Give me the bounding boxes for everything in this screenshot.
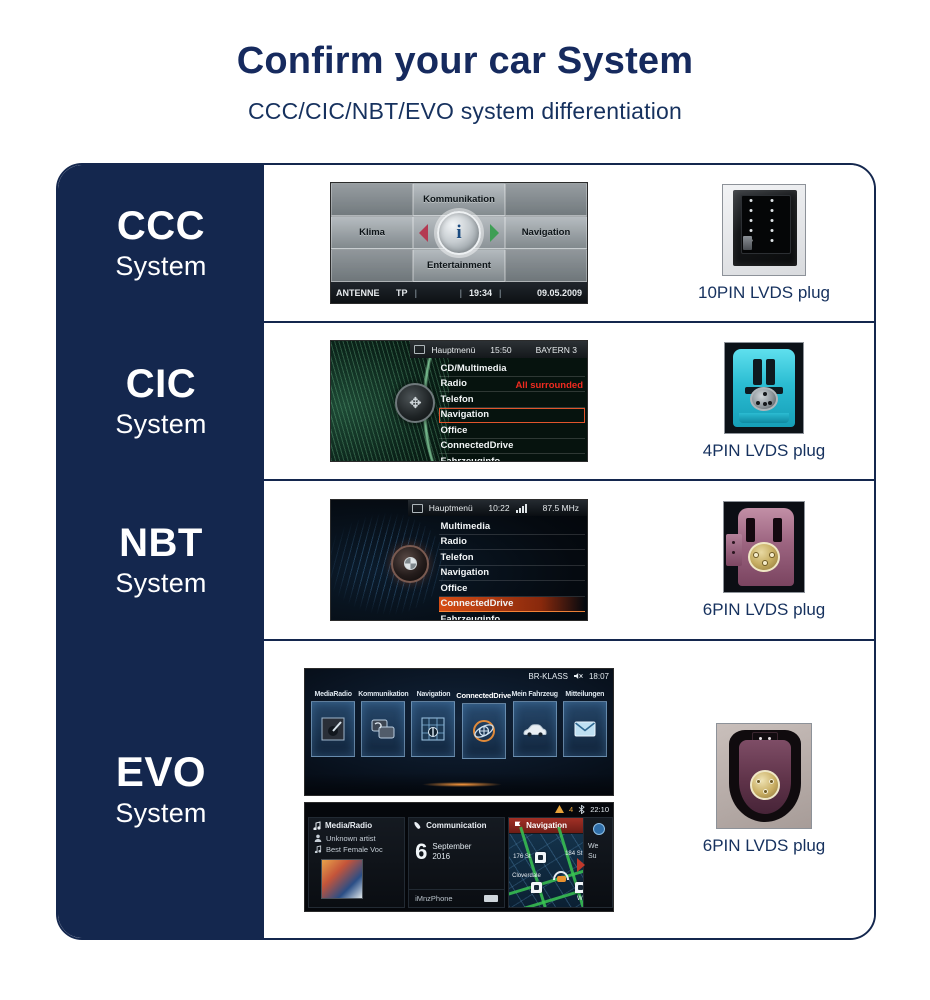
cic-topbar-time: 15:50 — [490, 345, 511, 355]
evo-phone-label: iMnzPhone — [415, 894, 453, 903]
system-code: EVO — [116, 750, 206, 794]
cic-topbar-station: BAYERN 3 — [536, 345, 577, 355]
evo-date-month: September — [432, 842, 471, 852]
nbt-topbar-frequency: 87.5 MHz — [543, 503, 579, 513]
info-i-icon: i — [437, 211, 481, 255]
cic-menu-item[interactable]: CD/Multimedia — [439, 361, 585, 377]
evo-warning-count: 4 — [569, 805, 573, 814]
ccc-tile-blank-bl — [331, 249, 413, 282]
nbt-menu-item[interactable]: Telefon — [439, 550, 585, 566]
plug-cell-cic: 4PIN LVDS plug — [654, 323, 874, 479]
page-subtitle: CCC/CIC/NBT/EVO system differentiation — [0, 98, 930, 125]
evo-bottom-status-bar: 4 22:10 — [555, 805, 609, 814]
evo-bottom-time: 22:10 — [590, 805, 609, 814]
map-compass-icon — [420, 716, 446, 742]
nbt-menu-item[interactable]: Multimedia — [439, 519, 585, 535]
idrive-controller-icon — [391, 545, 429, 583]
evo-top-time: 18:07 — [589, 672, 609, 681]
evo-tile-kommunikation[interactable]: Kommunikation — [360, 691, 406, 759]
table-row-cic: CIC System ✥ Hauptmenü 15:50 BAYERN 3 CD — [58, 323, 874, 481]
system-label-evo: EVO System — [58, 641, 264, 938]
table-row-evo: EVO System BR-KLASS 18:07 — [58, 641, 874, 938]
ccc-status-bar: ANTENNE TP | | 19:34 | 09.05.2009 — [331, 282, 587, 303]
connector-4pin-cyan-icon — [724, 342, 804, 434]
cic-menu-item[interactable]: Telefon — [439, 392, 585, 408]
plug-cell-evo: 6PIN LVDS plug — [654, 641, 874, 938]
evo-panel-communication[interactable]: Communication 6 September 2016 iMnzPho — [408, 817, 505, 908]
map-pin-icon — [535, 852, 546, 863]
nbt-menu-item[interactable]: Fahrzeuginfo — [439, 612, 585, 621]
evo-top-status-bar: BR-KLASS 18:07 — [528, 672, 609, 681]
system-sub: System — [115, 409, 206, 440]
system-label-nbt: NBT System — [58, 481, 264, 639]
evo-weather-line: Su — [588, 852, 598, 863]
warning-triangle-icon — [555, 805, 564, 813]
evo-tile-mitteilungen[interactable]: Mitteilungen — [563, 691, 607, 759]
evo-weather-lines: We Su — [588, 842, 598, 863]
nbt-menu-item[interactable]: Radio — [439, 535, 585, 551]
cic-menu-item[interactable]: Office — [439, 423, 585, 439]
ccc-status-date: 09.05.2009 — [537, 288, 582, 298]
cic-main-menu: CD/Multimedia Radio Telefon Navigation O… — [439, 361, 585, 462]
screen-cell-nbt: Hauptmenü 10:22 87.5 MHz Multimedia Radi… — [264, 481, 654, 639]
connecteddrive-globe-icon — [471, 718, 497, 744]
bluetooth-icon — [578, 805, 585, 814]
evo-tile-navigation[interactable]: Navigation — [411, 691, 455, 759]
system-code: NBT — [119, 522, 203, 564]
car-icon — [522, 716, 548, 742]
phone-icon — [413, 821, 422, 830]
cic-topbar-title: Hauptmenü — [431, 345, 475, 355]
evo-tile-label: Navigation — [417, 691, 451, 698]
cic-status-bar: Hauptmenü 15:50 BAYERN 3 — [410, 341, 587, 358]
evo-tile-label: Mein Fahrzeug — [511, 691, 557, 698]
map-label: 184 St — [565, 851, 582, 857]
ccc-status-source: ANTENNE — [336, 288, 380, 298]
system-label-cic: CIC System — [58, 323, 264, 479]
system-code: CIC — [126, 363, 196, 405]
album-cover-icon — [320, 716, 346, 742]
evo-tile-connecteddrive[interactable]: ConnectedDrive — [461, 691, 507, 759]
evo-date-block: 6 September 2016 — [409, 833, 504, 863]
screen-cell-ccc: Kommunikation Klima i Navigation Ent — [264, 165, 654, 321]
evo-home-screenshot: BR-KLASS 18:07 MediaRadio — [304, 668, 614, 796]
nbt-topbar-time: 10:22 — [488, 503, 509, 513]
cic-menu-item-selected[interactable]: Navigation — [439, 408, 585, 424]
table-row-ccc: CCC System Kommunikation Klima — [58, 165, 874, 323]
system-sub: System — [115, 568, 206, 599]
evo-tile-mediaradio[interactable]: MediaRadio — [311, 691, 355, 759]
screen-cell-cic: ✥ Hauptmenü 15:50 BAYERN 3 CD/Multimedia… — [264, 323, 654, 479]
connector-6pin-mauve-icon — [723, 501, 805, 593]
music-note-icon — [313, 821, 321, 830]
cic-idrive-screenshot: ✥ Hauptmenü 15:50 BAYERN 3 CD/Multimedia… — [330, 340, 588, 462]
screen-cell-evo: BR-KLASS 18:07 MediaRadio — [264, 641, 654, 938]
evo-media-track: Best Female Voc — [326, 845, 383, 854]
plug-caption: 10PIN LVDS plug — [698, 283, 830, 303]
menu-tile-icon — [412, 504, 423, 513]
evo-side-panel[interactable]: We Su — [583, 817, 613, 908]
battery-icon — [484, 895, 498, 902]
menu-tile-icon — [414, 345, 425, 354]
cic-annotation-all-surrounded: All surrounded — [515, 380, 583, 391]
evo-panel-title: Communication — [426, 821, 486, 830]
connector-10pin-black-icon — [722, 184, 806, 276]
evo-media-line-track: Best Female Voc — [309, 844, 404, 855]
evo-tile-label: MediaRadio — [315, 691, 352, 698]
connector-6pin-dark-purple-icon — [716, 723, 812, 829]
nbt-menu-item[interactable]: Office — [439, 581, 585, 597]
system-label-ccc: CCC System — [58, 165, 264, 321]
evo-tile-label: Mitteilungen — [565, 691, 604, 698]
ccc-tile-grid: Kommunikation Klima i Navigation Ent — [331, 183, 587, 282]
page-title: Confirm your car System — [0, 42, 930, 82]
map-label: 176 St — [513, 854, 530, 860]
ccc-arrow-left-icon — [419, 224, 428, 242]
ccc-tile-navigation: Navigation — [505, 216, 587, 249]
signal-bars-icon — [516, 504, 527, 513]
ccc-idrive-screenshot: Kommunikation Klima i Navigation Ent — [330, 182, 588, 304]
nbt-main-menu: Multimedia Radio Telefon Navigation Offi… — [439, 519, 585, 621]
system-code: CCC — [117, 205, 205, 247]
evo-panel-row: Media/Radio Unknown artist — [308, 817, 610, 908]
page-root: Confirm your car System CCC/CIC/NBT/EVO … — [0, 0, 930, 1000]
envelope-icon — [572, 716, 598, 742]
table-row-nbt: NBT System Hauptmenü 10:22 — [58, 481, 874, 641]
ccc-status-tp: TP — [396, 288, 408, 298]
nbt-idrive-screenshot: Hauptmenü 10:22 87.5 MHz Multimedia Radi… — [330, 499, 588, 621]
evo-tile-row: MediaRadio Kommunikation — [311, 691, 607, 759]
plug-caption: 6PIN LVDS plug — [703, 836, 826, 856]
map-pin-icon — [531, 882, 542, 893]
evo-split-screenshot: 4 22:10 — [304, 802, 614, 912]
ccc-tile-blank-br — [505, 249, 587, 282]
evo-media-artist: Unknown artist — [326, 834, 376, 843]
nbt-menu-item[interactable]: Navigation — [439, 566, 585, 582]
plug-cell-nbt: 6PIN LVDS plug — [654, 481, 874, 639]
map-label: Cloverdale — [512, 873, 541, 879]
idrive-controller-icon: ✥ — [395, 383, 435, 423]
evo-floor-glow — [422, 782, 502, 787]
plug-cell-ccc: 10PIN LVDS plug — [654, 165, 874, 321]
ccc-tile-blank-tl — [331, 183, 413, 216]
system-comparison-table: CCC System Kommunikation Klima — [56, 163, 876, 940]
speech-bubble-icon — [370, 716, 396, 742]
evo-tile-label: Kommunikation — [358, 691, 408, 698]
cic-menu-item[interactable]: Fahrzeuginfo — [439, 454, 585, 462]
system-sub: System — [115, 251, 206, 282]
evo-tile-label: ConnectedDrive — [456, 691, 511, 700]
plug-caption: 4PIN LVDS plug — [703, 441, 826, 461]
evo-panel-title: Navigation — [526, 821, 567, 830]
ccc-tile-blank-tr — [505, 183, 587, 216]
music-note-icon — [314, 845, 322, 853]
evo-album-art — [321, 859, 363, 899]
page-header: Confirm your car System CCC/CIC/NBT/EVO … — [0, 0, 930, 125]
evo-media-line-artist: Unknown artist — [309, 833, 404, 844]
evo-tile-mein-fahrzeug[interactable]: Mein Fahrzeug — [512, 691, 558, 759]
ccc-center-cell: i — [413, 216, 505, 249]
weather-icon — [593, 823, 605, 835]
mute-icon — [574, 672, 583, 680]
ccc-status-time: 19:34 — [469, 288, 492, 298]
ccc-tile-klima: Klima — [331, 216, 413, 249]
current-position-icon — [553, 871, 569, 880]
evo-panel-media-radio[interactable]: Media/Radio Unknown artist — [308, 817, 405, 908]
artist-icon — [314, 834, 322, 842]
evo-phone-row: iMnzPhone — [409, 889, 504, 903]
evo-weather-line: We — [588, 842, 598, 853]
evo-panel-title: Media/Radio — [325, 821, 372, 830]
system-sub: System — [115, 798, 206, 829]
nbt-menu-item-selected[interactable]: ConnectedDrive — [439, 597, 585, 613]
chevron-right-icon[interactable] — [577, 858, 585, 872]
nbt-status-bar: Hauptmenü 10:22 87.5 MHz — [408, 500, 587, 516]
evo-date-year: 2016 — [432, 852, 471, 862]
ccc-arrow-right-icon — [490, 224, 499, 242]
evo-top-station: BR-KLASS — [528, 672, 568, 681]
cic-menu-item[interactable]: ConnectedDrive — [439, 439, 585, 455]
nbt-topbar-title: Hauptmenü — [429, 503, 473, 513]
evo-date-day: 6 — [415, 841, 427, 863]
plug-caption: 6PIN LVDS plug — [703, 600, 826, 620]
